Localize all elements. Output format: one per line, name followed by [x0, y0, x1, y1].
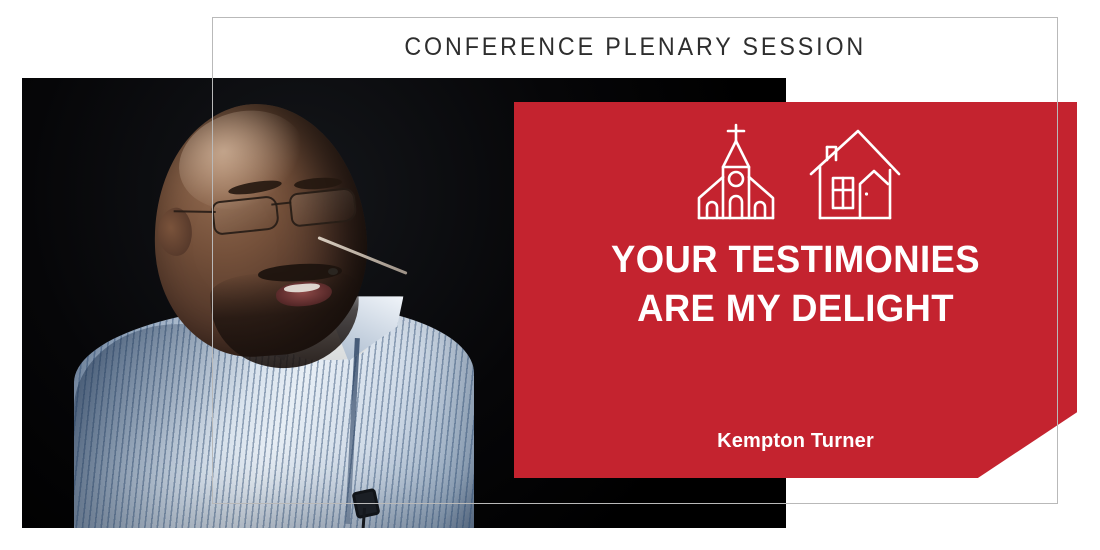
church-icon [690, 122, 782, 222]
header-bar: CONFERENCE PLENARY SESSION [212, 17, 1058, 78]
header-eyebrow: CONFERENCE PLENARY SESSION [404, 33, 866, 62]
speaker-figure [62, 86, 492, 528]
glasses-lens-left [211, 195, 280, 236]
glasses-lens-right [288, 187, 357, 228]
headset-mic-tip [328, 268, 338, 275]
shirt-shadow [74, 324, 249, 528]
icon-row [690, 117, 902, 222]
panel-headline: YOUR TESTIMONIES ARE MY DELIGHT [525, 236, 1065, 335]
headline-line-1: YOUR TESTIMONIES [611, 239, 980, 281]
title-panel: YOUR TESTIMONIES ARE MY DELIGHT Kempton … [514, 102, 1077, 478]
headline-line-2: ARE MY DELIGHT [525, 285, 1065, 334]
speaker-name: Kempton Turner [514, 430, 1077, 453]
house-icon [808, 122, 902, 222]
presentation-slide: YOUR TESTIMONIES ARE MY DELIGHT Kempton … [0, 0, 1100, 550]
